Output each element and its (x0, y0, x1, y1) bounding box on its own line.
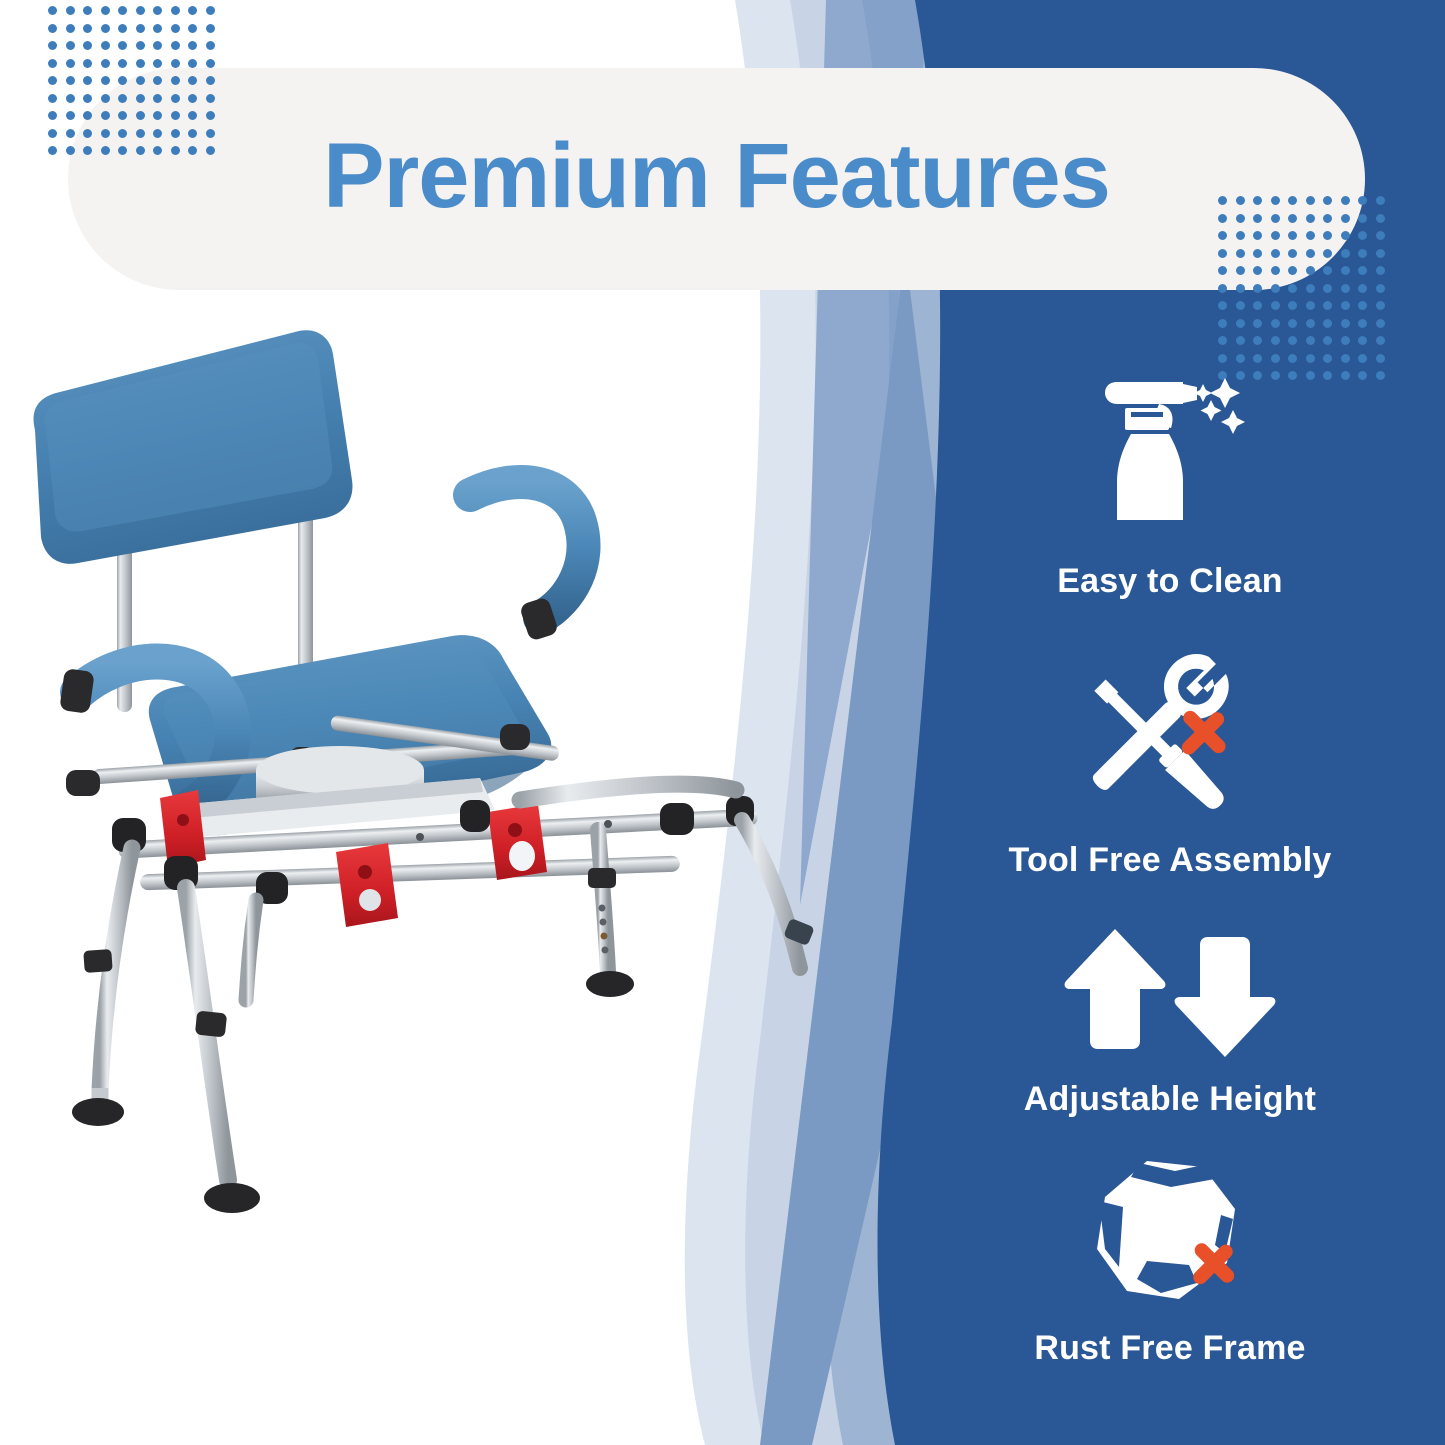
dot (1288, 319, 1297, 328)
dot (1271, 301, 1280, 310)
feature-item-easy-to-clean: Easy to Clean (930, 360, 1410, 601)
dot (101, 59, 110, 68)
dot (1288, 336, 1297, 345)
dot (48, 6, 57, 15)
dot (48, 111, 57, 120)
feature-item-adjustable-height: Adjustable Height (930, 918, 1410, 1119)
dot (101, 6, 110, 15)
infographic-root: Premium Features (0, 0, 1445, 1445)
dot (1341, 336, 1350, 345)
dot (1376, 214, 1385, 223)
dot (1218, 336, 1227, 345)
dot (1376, 319, 1385, 328)
dot (1288, 301, 1297, 310)
dot (1358, 336, 1367, 345)
dot (1218, 301, 1227, 310)
dot (118, 41, 127, 50)
dot (1376, 266, 1385, 275)
dot (1236, 319, 1245, 328)
dot (1271, 336, 1280, 345)
dot (188, 41, 197, 50)
armrest-right (470, 482, 584, 642)
dot (153, 6, 162, 15)
dot (118, 24, 127, 33)
feature-item-rust-free-frame: Rust Free Frame (930, 1157, 1410, 1368)
dot (1236, 336, 1245, 345)
dot (206, 59, 215, 68)
dot (1253, 336, 1262, 345)
dot (83, 41, 92, 50)
dot (1253, 301, 1262, 310)
dot (1376, 301, 1385, 310)
dot (136, 41, 145, 50)
dot (101, 41, 110, 50)
dot (206, 41, 215, 50)
dot (1358, 301, 1367, 310)
dot (1306, 319, 1315, 328)
dot (1376, 196, 1385, 205)
dot (206, 24, 215, 33)
dot (1306, 336, 1315, 345)
wrench-screwdriver-no-icon (1075, 639, 1265, 829)
spray-bottle-icon (1075, 360, 1265, 550)
dot (136, 24, 145, 33)
dot (171, 41, 180, 50)
dot (188, 6, 197, 15)
up-down-arrows-icon (1060, 918, 1280, 1068)
dot (1341, 319, 1350, 328)
dot (1323, 301, 1332, 310)
page-title: Premium Features (68, 68, 1365, 290)
dot (48, 76, 57, 85)
feature-label: Easy to Clean (1057, 562, 1283, 601)
dot (206, 6, 215, 15)
dot (118, 59, 127, 68)
dot (1218, 319, 1227, 328)
dot (48, 146, 57, 155)
dot (1376, 231, 1385, 240)
feature-label: Rust Free Frame (1034, 1329, 1305, 1368)
dot (153, 24, 162, 33)
dot (153, 59, 162, 68)
dot (153, 41, 162, 50)
dot (66, 24, 75, 33)
dot (66, 6, 75, 15)
dot (171, 59, 180, 68)
features-list: Easy to Clean (930, 360, 1410, 1368)
feature-label: Tool Free Assembly (1009, 841, 1332, 880)
dot (136, 6, 145, 15)
dot (188, 24, 197, 33)
dot (118, 6, 127, 15)
dot (1323, 336, 1332, 345)
dot (1376, 249, 1385, 258)
dot (171, 24, 180, 33)
dot (48, 41, 57, 50)
dot (66, 41, 75, 50)
dot (1341, 301, 1350, 310)
feature-item-tool-free-assembly: Tool Free Assembly (930, 639, 1410, 880)
dot (171, 6, 180, 15)
dot (1253, 319, 1262, 328)
feature-label: Adjustable Height (1024, 1080, 1316, 1119)
dot (1236, 301, 1245, 310)
dot (83, 24, 92, 33)
rear-frame-bar (520, 784, 736, 800)
rust-hexagon-no-icon (1075, 1157, 1265, 1317)
dot (1306, 301, 1315, 310)
dot (1376, 336, 1385, 345)
dot (83, 59, 92, 68)
dot (66, 59, 75, 68)
dot (48, 24, 57, 33)
dot (48, 94, 57, 103)
dot (48, 59, 57, 68)
dot (1358, 319, 1367, 328)
dot (136, 59, 145, 68)
product-image-shower-transfer-bench (0, 300, 880, 1400)
dot (101, 24, 110, 33)
dot (188, 59, 197, 68)
dot (1271, 319, 1280, 328)
dot (83, 6, 92, 15)
dot (1376, 284, 1385, 293)
dot (48, 129, 57, 138)
dot (1323, 319, 1332, 328)
